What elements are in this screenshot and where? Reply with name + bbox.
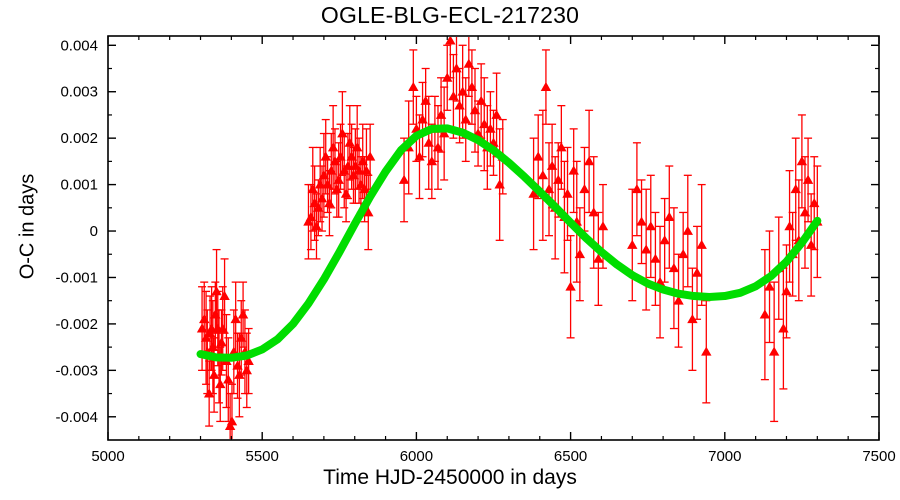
y-tick-label: 0.002 — [60, 130, 98, 147]
y-tick-label: -0.002 — [55, 316, 98, 333]
data-point-marker — [399, 175, 409, 184]
y-tick-label: 0.001 — [60, 177, 98, 194]
plot-canvas: 5000550060006500700075000.0040.0030.0020… — [0, 0, 900, 500]
y-tick-label: 0.004 — [60, 37, 98, 54]
x-tick-label: 6500 — [554, 448, 587, 465]
data-point-marker — [242, 365, 252, 374]
data-point-marker — [627, 240, 637, 249]
y-tick-label: -0.003 — [55, 362, 98, 379]
data-point-marker — [598, 221, 608, 230]
chart-svg: 5000550060006500700075000.0040.0030.0020… — [0, 0, 900, 500]
data-point-marker — [701, 347, 711, 356]
data-point-marker — [565, 282, 575, 291]
y-tick-label: -0.004 — [55, 409, 98, 426]
x-tick-label: 7000 — [708, 448, 741, 465]
data-point-marker — [538, 170, 548, 179]
data-point-marker — [664, 212, 674, 221]
fit-curve — [201, 128, 818, 357]
data-point-marker — [646, 221, 656, 230]
data-point-marker — [328, 142, 338, 151]
y-tick-label: 0 — [90, 223, 98, 240]
y-tick-label: -0.001 — [55, 269, 98, 286]
data-point-marker — [230, 314, 240, 323]
y-tick-label: 0.003 — [60, 84, 98, 101]
data-point-marker — [584, 156, 594, 165]
data-point-marker — [659, 235, 669, 244]
data-point-marker — [760, 309, 770, 318]
chart-root: OGLE-BLG-ECL-217230 O-C in days Time HJD… — [0, 0, 900, 500]
data-point-marker — [683, 226, 693, 235]
data-point-marker — [345, 138, 355, 147]
x-tick-label: 7500 — [862, 448, 895, 465]
data-point-marker — [769, 347, 779, 356]
data-point-marker — [641, 244, 651, 253]
data-point-marker — [636, 217, 646, 226]
data-point-marker — [308, 184, 318, 193]
fit-curve-layer — [201, 128, 818, 357]
data-point-marker — [541, 82, 551, 91]
data-point-marker — [223, 374, 233, 383]
data-point-marker — [533, 152, 543, 161]
data-point-marker — [632, 184, 642, 193]
data-point-marker — [238, 309, 248, 318]
data-point-layer — [197, 35, 823, 430]
x-tick-label: 5500 — [246, 448, 279, 465]
data-point-marker — [324, 198, 334, 207]
data-point-marker — [579, 184, 589, 193]
data-point-marker — [215, 379, 225, 388]
errorbar-layer — [198, 3, 821, 458]
data-point-marker — [696, 240, 706, 249]
data-point-marker — [408, 82, 418, 91]
data-point-marker — [219, 291, 229, 300]
x-tick-label: 6000 — [400, 448, 433, 465]
data-point-marker — [341, 189, 351, 198]
x-tick-label: 5000 — [91, 448, 124, 465]
data-point-marker — [692, 268, 702, 277]
data-point-marker — [650, 254, 660, 263]
